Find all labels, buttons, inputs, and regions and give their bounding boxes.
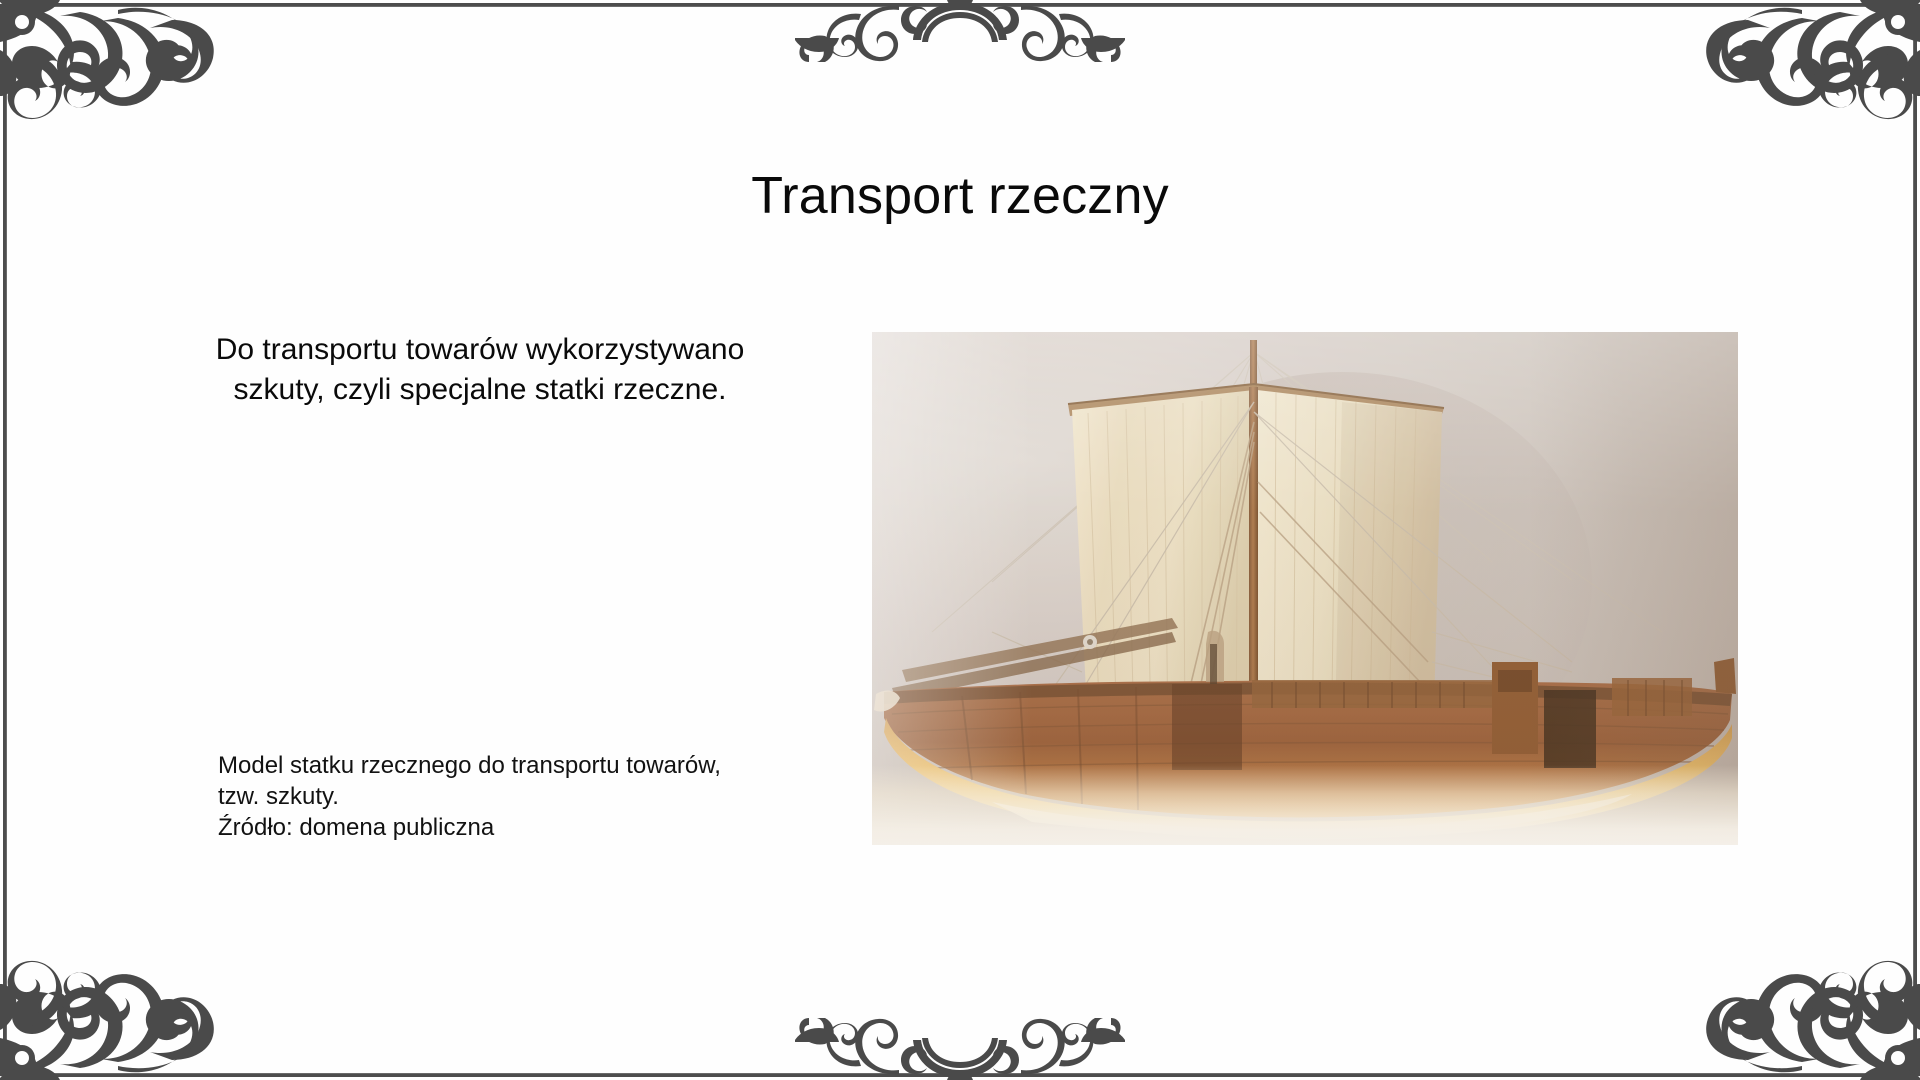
- page-title: Transport rzeczny: [0, 165, 1920, 227]
- body-paragraph: Do transportu towarów wykorzystywano szk…: [140, 330, 820, 409]
- center-scroll-icon-bottom: [795, 1014, 1125, 1080]
- corner-flourish-icon-top-left: [0, 0, 300, 130]
- corner-flourish-icon-bottom-right: [1620, 950, 1920, 1080]
- ship-model-photo: [872, 332, 1738, 845]
- image-caption: Model statku rzecznego do transportu tow…: [218, 750, 858, 844]
- photo-tone-overlay: [872, 332, 1738, 845]
- caption-line-2: tzw. szkuty.: [218, 781, 858, 812]
- corner-flourish-icon-bottom-left: [0, 950, 300, 1080]
- body-line-1: Do transportu towarów wykorzystywano: [140, 330, 820, 370]
- body-line-2: szkuty, czyli specjalne statki rzeczne.: [140, 370, 820, 410]
- caption-source: Źródło: domena publiczna: [218, 812, 858, 843]
- corner-flourish-icon-top-right: [1620, 0, 1920, 130]
- caption-line-1: Model statku rzecznego do transportu tow…: [218, 750, 858, 781]
- slide-canvas: Transport rzeczny Do transportu towarów …: [0, 0, 1920, 1080]
- center-scroll-icon-top: [795, 0, 1125, 66]
